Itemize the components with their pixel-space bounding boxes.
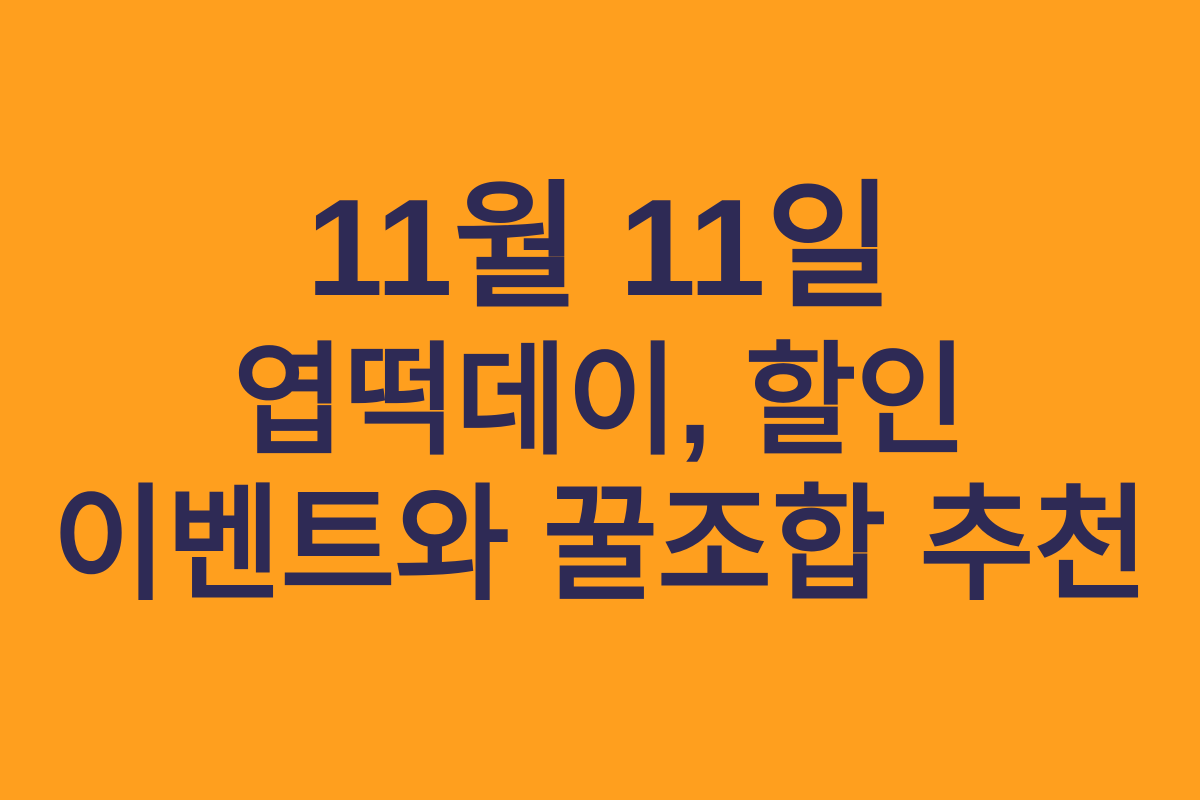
headline-line-3: 이벤트와 꿀조합 추천: [0, 474, 1200, 619]
headline-block: 11월 11일 엽떡데이, 할인 이벤트와 꿀조합 추천: [0, 169, 1200, 619]
headline-line-2: 엽떡데이, 할인: [0, 331, 1200, 472]
thumbnail-canvas: 11월 11일 엽떡데이, 할인 이벤트와 꿀조합 추천: [0, 0, 1200, 800]
headline-line-1: 11월 11일: [0, 169, 1200, 329]
